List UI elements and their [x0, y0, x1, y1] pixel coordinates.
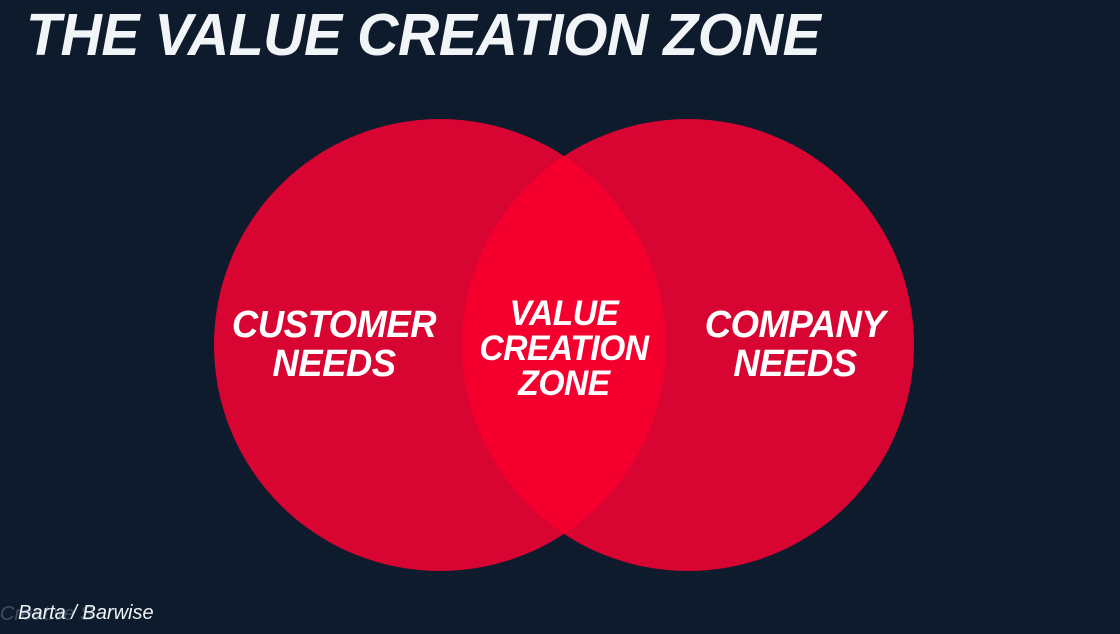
slide-canvas: THE VALUE CREATION ZONE CUSTOMER NEEDS V… — [0, 0, 1120, 634]
venn-label-value-creation-zone: VALUE CREATION ZONE — [464, 296, 664, 401]
venn-label-company-needs: COMPANY NEEDS — [681, 306, 909, 384]
credit-source-text: Barta / Barwise — [18, 600, 154, 626]
venn-label-customer-needs: CUSTOMER NEEDS — [219, 306, 449, 384]
credit-line: Creative S Barta / Barwise — [0, 600, 420, 630]
